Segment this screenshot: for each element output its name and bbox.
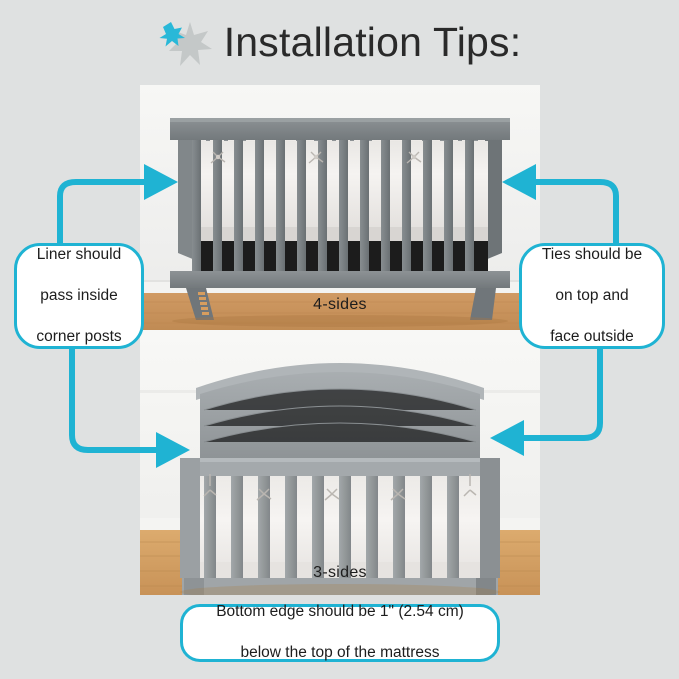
crib-photo-3-sides [140,330,540,595]
callout-right-line-1: Ties should be [534,245,650,265]
callout-left-line-1: Liner should [28,245,129,265]
star-decoration-group [158,18,214,70]
star-icon-large [169,22,212,66]
callout-liner-corner-posts: Liner should pass inside corner posts [14,243,144,349]
stars-svg [158,18,214,70]
crib-photo-4-sides [140,85,540,330]
crib-photo-4-sides-graphic [140,85,540,330]
arrow-left-upper-line [60,182,148,245]
callout-bottom-line-1: Bottom edge should be 1" (2.54 cm) [208,602,472,622]
callout-left-line-2: pass inside [28,286,129,306]
callout-liner-corner-posts-text: Liner should pass inside corner posts [20,245,137,347]
callout-ties-top-outside-text: Ties should be on top and face outside [526,245,658,347]
arrow-right-upper-line [532,182,616,245]
installation-tips-infographic: Installation Tips: [0,0,679,679]
callout-ties-top-outside: Ties should be on top and face outside [519,243,665,349]
crib-photo-3-sides-graphic [140,330,540,595]
page-header: Installation Tips: [0,8,679,80]
callout-bottom-edge-text: Bottom edge should be 1" (2.54 cm) below… [200,602,480,663]
callout-bottom-edge: Bottom edge should be 1" (2.54 cm) below… [180,604,500,662]
page-title: Installation Tips: [224,22,522,67]
callout-bottom-line-2: below the top of the mattress [208,643,472,663]
callout-right-line-2: on top and [534,286,650,306]
callout-right-line-3: face outside [534,327,650,347]
callout-left-line-3: corner posts [28,327,129,347]
caption-3-sides: 3-sides [140,564,540,582]
caption-4-sides: 4-sides [140,296,540,314]
